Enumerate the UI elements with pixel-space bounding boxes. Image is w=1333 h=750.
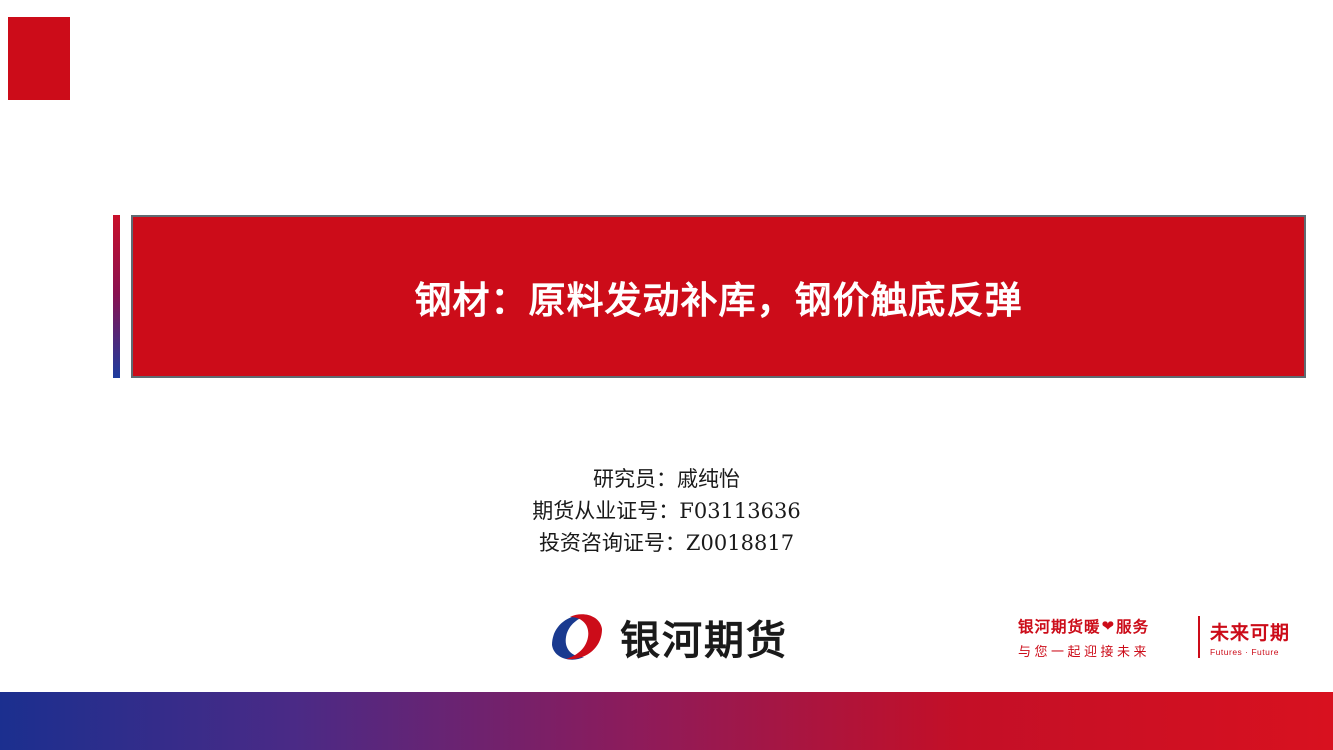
- slogan-right-cn: 未来可期: [1210, 618, 1290, 645]
- heart-icon: ❤: [1102, 617, 1116, 635]
- slogan-line-1-after: 服务: [1116, 615, 1149, 637]
- author-info: 研究员：戚纯怡 期货从业证号：F03113636 投资咨询证号：Z0018817: [0, 463, 1333, 559]
- slogan-line-1-before: 银河期货暖: [1018, 615, 1101, 637]
- title-accent-bar: [113, 215, 120, 378]
- slogan-line-1: 银河期货暖 ❤ 服务: [1018, 615, 1188, 637]
- galaxy-futures-logo-mark-icon: [548, 609, 606, 665]
- consulting-license-number: 投资咨询证号：Z0018817: [0, 527, 1333, 559]
- decorative-corner-square: [8, 17, 70, 100]
- company-logo: 银河期货: [548, 606, 793, 668]
- slogan-line-2: 与您一起迎接未来: [1018, 641, 1188, 660]
- company-name: 银河期货: [620, 608, 788, 666]
- slogan-right-block: 未来可期 Futures · Future: [1210, 618, 1290, 657]
- slogan-divider: [1198, 616, 1200, 658]
- researcher-name: 研究员：戚纯怡: [0, 463, 1333, 495]
- title-band: 钢材：原料发动补库，钢价触底反弹: [113, 215, 1306, 378]
- title-box: 钢材：原料发动补库，钢价触底反弹: [131, 215, 1306, 378]
- futures-license-number: 期货从业证号：F03113636: [0, 495, 1333, 527]
- brand-slogan-lockup: 银河期货暖 ❤ 服务 与您一起迎接未来 未来可期 Futures · Futur…: [1018, 612, 1290, 662]
- slide-root: 钢材：原料发动补库，钢价触底反弹 研究员：戚纯怡 期货从业证号：F0311363…: [0, 0, 1333, 750]
- slogan-right-en: Futures · Future: [1210, 647, 1290, 657]
- page-title: 钢材：原料发动补库，钢价触底反弹: [415, 270, 1023, 324]
- slogan-left-block: 银河期货暖 ❤ 服务 与您一起迎接未来: [1018, 615, 1188, 660]
- bottom-gradient-bar: [0, 692, 1333, 750]
